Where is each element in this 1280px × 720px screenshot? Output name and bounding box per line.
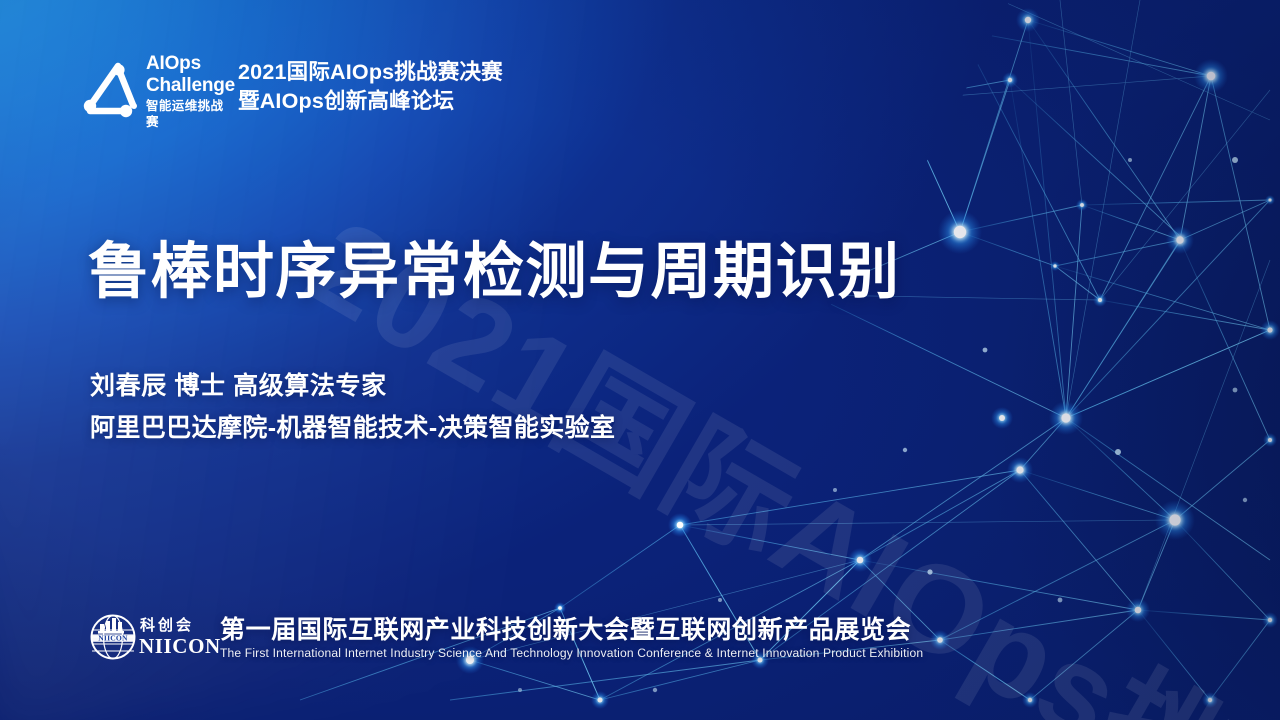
- speaker-name: 刘春辰 博士 高级算法专家: [90, 365, 615, 407]
- event-title-block: 2021国际AIOps挑战赛决赛 暨AIOps创新高峰论坛: [238, 58, 503, 116]
- logo-line-challenge: Challenge: [146, 75, 235, 97]
- footer: NIICON 科创会 NIICON 第一届国际互联网产业科技创新大会暨互联网创新…: [88, 612, 923, 664]
- svg-text:NIICON: NIICON: [98, 633, 128, 642]
- speaker-organization: 阿里巴巴达摩院-机器智能技术-决策智能实验室: [90, 407, 615, 449]
- event-title-line2: 暨AIOps创新高峰论坛: [238, 87, 503, 116]
- niicon-globe-icon: NIICON: [88, 612, 138, 662]
- header: AIOps Challenge 智能运维挑战赛 2021国际AIOps挑战赛决赛…: [78, 48, 503, 126]
- logo-line-aiops: AIOps: [146, 53, 235, 75]
- niicon-logo: NIICON 科创会 NIICON: [88, 612, 210, 664]
- footer-title-en: The First International Internet Industr…: [220, 646, 923, 661]
- slide-title: 鲁棒时序异常检测与周期识别: [88, 234, 901, 308]
- footer-text-block: 第一届国际互联网产业科技创新大会暨互联网创新产品展览会 The First In…: [220, 616, 923, 661]
- niicon-logo-cn: 科创会: [140, 614, 194, 635]
- aiops-challenge-logo: AIOps Challenge 智能运维挑战赛: [78, 48, 224, 126]
- speaker-block: 刘春辰 博士 高级算法专家 阿里巴巴达摩院-机器智能技术-决策智能实验室: [90, 365, 615, 449]
- footer-title-cn: 第一届国际互联网产业科技创新大会暨互联网创新产品展览会: [220, 616, 923, 645]
- niicon-logo-en: NIICON: [139, 634, 221, 659]
- logo-line-chinese: 智能运维挑战赛: [146, 98, 235, 130]
- event-title-line1: 2021国际AIOps挑战赛决赛: [238, 58, 503, 87]
- presentation-slide: 2021国际AIOps挑战赛 AIOps Challenge 智能运维: [0, 0, 1280, 720]
